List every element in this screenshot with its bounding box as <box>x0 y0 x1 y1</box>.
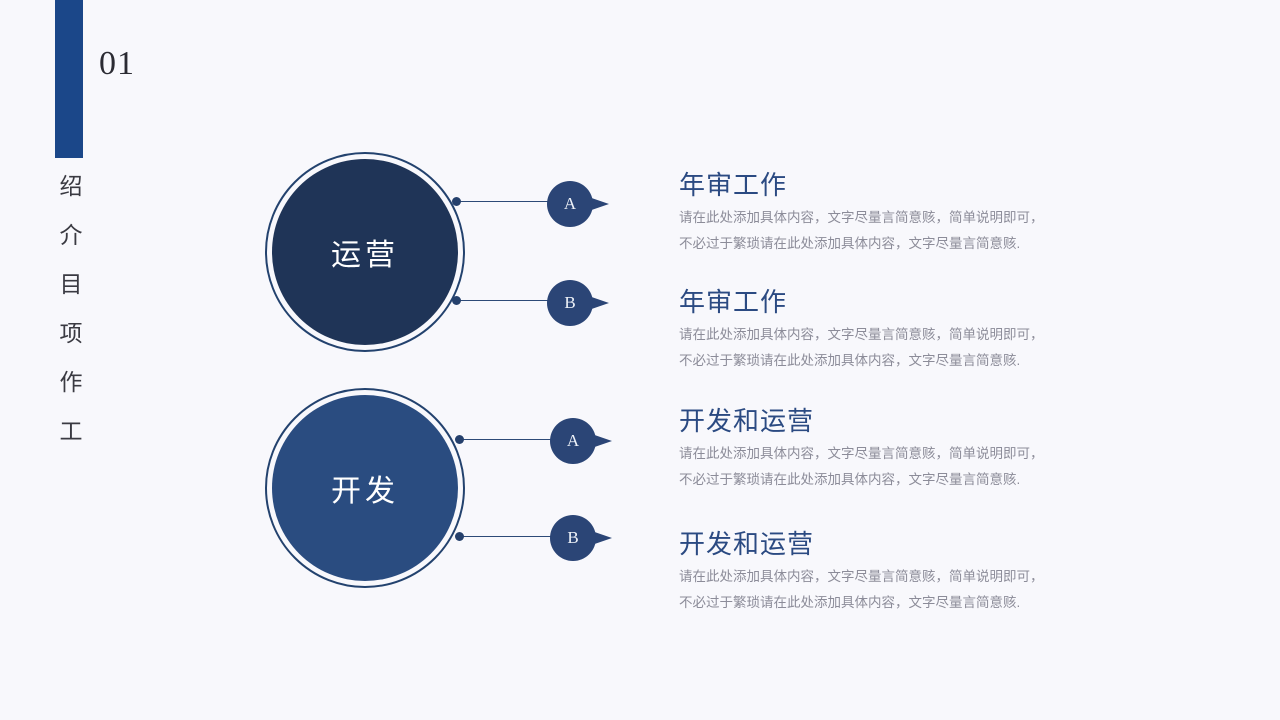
connector-line <box>461 536 559 537</box>
sidebar-vertical-char: 项 <box>60 322 83 345</box>
main-circle-label: 运营 <box>331 230 399 274</box>
badge-b-development[interactable]: B <box>550 515 614 563</box>
sidebar-vertical-title: 工 作 项 目 介 绍 <box>56 175 86 443</box>
badge-a-development[interactable]: A <box>550 418 614 466</box>
text-block-operations-a: 年审工作 请在此处添加具体内容，文字尽量言简意赅，简单说明即可， 不必过于繁琐请… <box>679 171 1149 258</box>
connector-dot <box>455 532 464 541</box>
sidebar-vertical-char: 介 <box>60 224 83 247</box>
text-block-title: 开发和运营 <box>679 407 1149 437</box>
badge-circle: B <box>550 515 596 561</box>
connector-dot <box>452 197 461 206</box>
text-block-line: 不必过于繁琐请在此处添加具体内容，文字尽量言简意赅. <box>679 231 1149 257</box>
badge-label: B <box>567 528 578 548</box>
badge-circle: A <box>550 418 596 464</box>
text-block-line: 请在此处添加具体内容，文字尽量言简意赅，简单说明即可， <box>679 205 1149 231</box>
badge-a-operations[interactable]: A <box>547 181 611 229</box>
text-block-line: 不必过于繁琐请在此处添加具体内容，文字尽量言简意赅. <box>679 590 1149 616</box>
text-block-development-b: 开发和运营 请在此处添加具体内容，文字尽量言简意赅，简单说明即可， 不必过于繁琐… <box>679 530 1149 617</box>
connector-line <box>461 439 559 440</box>
connector-dot <box>452 296 461 305</box>
sidebar-vertical-char: 作 <box>60 371 83 394</box>
text-block-title: 年审工作 <box>679 288 1149 318</box>
text-block-development-a: 开发和运营 请在此处添加具体内容，文字尽量言简意赅，简单说明即可， 不必过于繁琐… <box>679 407 1149 494</box>
text-block-line: 不必过于繁琐请在此处添加具体内容，文字尽量言简意赅. <box>679 348 1149 374</box>
badge-label: B <box>564 293 575 313</box>
text-block-line: 不必过于繁琐请在此处添加具体内容，文字尽量言简意赅. <box>679 467 1149 493</box>
connector-line <box>458 300 556 301</box>
text-block-line: 请在此处添加具体内容，文字尽量言简意赅，简单说明即可， <box>679 564 1149 590</box>
badge-label: A <box>567 431 579 451</box>
slide-canvas: 01 工 作 项 目 介 绍 运营 A B <box>0 0 1280 720</box>
text-block-line: 请在此处添加具体内容，文字尽量言简意赅，简单说明即可， <box>679 322 1149 348</box>
badge-b-operations[interactable]: B <box>547 280 611 328</box>
text-block-title: 开发和运营 <box>679 530 1149 560</box>
section-number: 01 <box>99 47 135 81</box>
sidebar-vertical-char: 工 <box>60 420 83 443</box>
main-circle-development[interactable]: 开发 <box>265 388 465 588</box>
main-circle-label: 开发 <box>331 466 399 510</box>
badge-label: A <box>564 194 576 214</box>
sidebar-vertical-char: 目 <box>60 273 83 296</box>
connector-line <box>458 201 556 202</box>
sidebar-vertical-char: 绍 <box>60 175 83 198</box>
text-block-line: 请在此处添加具体内容，文字尽量言简意赅，简单说明即可， <box>679 441 1149 467</box>
badge-circle: B <box>547 280 593 326</box>
sidebar-accent-bar <box>55 0 83 158</box>
main-circle-operations[interactable]: 运营 <box>265 152 465 352</box>
main-circle-fill: 开发 <box>272 395 458 581</box>
badge-circle: A <box>547 181 593 227</box>
text-block-title: 年审工作 <box>679 171 1149 201</box>
main-circle-fill: 运营 <box>272 159 458 345</box>
connector-dot <box>455 435 464 444</box>
text-block-operations-b: 年审工作 请在此处添加具体内容，文字尽量言简意赅，简单说明即可， 不必过于繁琐请… <box>679 288 1149 375</box>
